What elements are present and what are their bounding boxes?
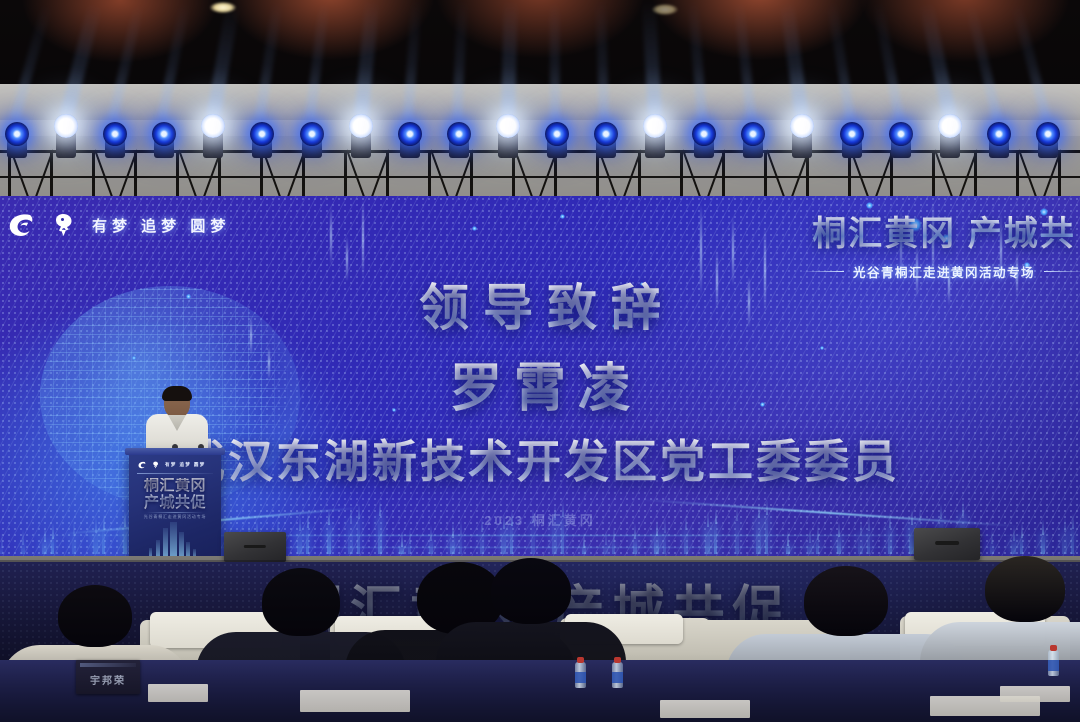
skyline-tower [297,529,302,554]
led-brand-row: 有梦 追梦 圆梦 [8,212,230,238]
bottle-label [1048,660,1059,671]
speech-role-title: 领导致辞 [14,268,1080,340]
name-card-text: 宇邦荣 [76,672,140,687]
skyline-tower [756,516,761,554]
skyline-tower [663,531,666,554]
skyline-tower [582,546,586,554]
blue-spotlight-icon [594,122,618,146]
delegate-name-card: 宇邦荣 [76,660,140,694]
skyline-tower [816,538,819,554]
skyline-tower [123,525,127,554]
guanggu-swirl-logo-icon [138,461,147,469]
truss-horizontal-rail [0,176,1080,178]
audience-person-head [804,566,888,636]
skyline-tower [531,521,535,554]
skyline-tower [858,532,863,554]
podium-title: 桐汇黄冈 产城共促 [129,478,221,512]
light-beam [501,0,518,118]
skyline-tower [357,517,360,554]
stage-monitor-speaker [224,532,286,562]
white-spotlight-icon [643,114,667,138]
skyline-tower [327,523,331,554]
bottle-label [612,672,623,683]
skyline-tower [459,533,462,554]
audience-person-head [58,585,132,647]
skyline-tower [603,543,608,554]
led-brand-slogan: 有梦 追梦 圆梦 [92,215,230,236]
skyline-tower [72,534,76,554]
water-bottle [575,662,586,688]
skyline-tower [867,529,870,554]
skyline-tower [1071,527,1074,554]
skyline-tower [633,537,637,554]
bottle-cap-icon [577,657,584,663]
skyline-tower [429,539,433,554]
podium-slogan: 有梦 追梦 圆梦 [165,462,206,468]
stage-monitor-speaker [914,528,980,560]
document-paper [300,690,410,712]
white-spotlight-icon [938,114,962,138]
skyline-tower [21,543,25,554]
water-bottle [1048,650,1059,676]
document-paper [148,684,208,702]
monitor-handle-icon [935,541,959,545]
skyline-tower [807,541,812,554]
skyline-tower [1062,530,1067,554]
led-headline-text: 桐汇黄冈 产城共 [802,206,1080,255]
audience-person-head [491,558,571,624]
audience-person-head [985,556,1065,622]
document-paper [1000,686,1070,702]
skyline-tower [1020,536,1023,554]
data-rain-streak [362,200,364,278]
skyline-tower [378,514,382,554]
blue-spotlight-icon [1036,122,1060,146]
name-card-header-bar [80,663,136,667]
blue-spotlight-icon [987,122,1011,146]
skyline-tower [786,544,790,554]
light-particle [560,214,565,219]
podium-title-line1: 桐汇黄冈 [129,478,221,495]
podium-top-edge [125,448,225,455]
skyline-tower [510,524,513,554]
white-spotlight-icon [54,114,78,138]
skyline-tower [51,537,54,554]
skyline-tower [837,535,841,554]
podium-brand-row: 有梦 追梦 圆梦 [138,461,206,469]
skyline-tower [654,534,659,554]
podium-subtitle-divider [147,512,203,513]
bottle-label [575,672,586,683]
blue-spotlight-icon [5,122,29,146]
white-spotlight-icon [496,114,520,138]
monitor-handle-icon [244,545,266,549]
skyline-tower [561,515,564,554]
light-beam [550,0,560,118]
skyline-tower [705,525,710,554]
blue-spotlight-icon [398,122,422,146]
data-rain-streak [330,206,332,266]
skyline-tower [765,513,768,554]
skyline-tower [612,540,615,554]
qingtonghui-mask-logo-icon [52,212,78,238]
guanggu-swirl-logo-icon [8,212,38,238]
skyline-tower [501,527,506,554]
bottle-cap-icon [1050,645,1057,651]
stage-photo-scene: 有梦 追梦 圆梦 桐汇黄冈 产城共 光谷青桐汇走进黄冈活动专场 领导致辞 罗霄凌… [0,0,1080,722]
skyline-tower [306,526,309,554]
skyline-tower [399,545,404,554]
speaker-hair [162,386,192,401]
white-spotlight-icon [349,114,373,138]
skyline-tower [1041,533,1045,554]
blue-spotlight-icon [840,122,864,146]
skyline-tower [552,518,557,554]
blue-spotlight-icon [545,122,569,146]
skyline-tower [735,519,739,554]
light-particle [472,226,477,231]
skyline-tower [684,528,688,554]
skyline-tower [990,542,994,554]
skyline-tower [348,520,353,554]
qingtonghui-mask-logo-icon [152,461,160,469]
skyline-tower [480,530,484,554]
blue-spotlight-icon [889,122,913,146]
podium: 有梦 追梦 圆梦 桐汇黄冈 产城共促 光谷青桐汇走进黄冈活动专场 [129,452,221,564]
audience-person-head [262,568,340,636]
blue-spotlight-icon [103,122,127,146]
skyline-tower [888,526,892,554]
skyline-tower [93,531,98,554]
skyline-tower [408,542,411,554]
bottle-cap-icon [614,657,621,663]
podium-title-line2: 产城共促 [129,495,221,512]
skyline-tower [1011,539,1016,554]
skyline-tower [42,540,47,554]
blue-spotlight-icon [447,122,471,146]
skyline-tower [450,536,455,554]
skyline-tower [714,522,717,554]
skyline-tower [102,528,105,554]
water-bottle [612,662,623,688]
blue-spotlight-icon [300,122,324,146]
skyline-tower [0,546,3,554]
document-paper [660,700,750,718]
podium-divider [137,473,213,474]
